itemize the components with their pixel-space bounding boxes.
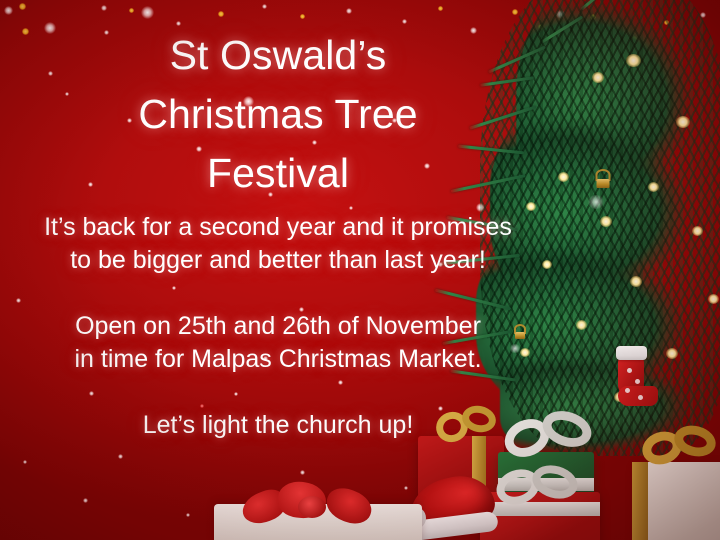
paragraph-closing: Let’s light the church up! [0, 409, 556, 442]
paragraph-intro: It’s back for a second year and it promi… [0, 211, 556, 277]
fairy-light [676, 116, 690, 128]
title-line-1: St Oswald’s [0, 26, 556, 85]
fairy-light [558, 172, 569, 182]
fairy-light [592, 72, 604, 83]
fairy-light [692, 226, 703, 236]
fairy-light [648, 182, 659, 192]
paragraph-dates: Open on 25th and 26th of November in tim… [0, 310, 556, 376]
fairy-light [708, 294, 719, 304]
gift-bow-gold-right [642, 424, 718, 468]
snowflake-icon [627, 368, 632, 373]
bauble-highlight [587, 195, 605, 209]
fairy-light [576, 320, 587, 330]
fairy-light [666, 348, 678, 359]
snowflake-icon [625, 388, 630, 393]
page-title: St Oswald’s Christmas Tree Festival [0, 0, 556, 203]
intro-line-1: It’s back for a second year and it promi… [0, 211, 556, 244]
christmas-stocking-icon [618, 346, 660, 408]
title-line-3: Festival [0, 144, 556, 203]
snowflake-icon [635, 379, 640, 384]
gift-ribbon [632, 462, 648, 540]
closing-line-1: Let’s light the church up! [0, 409, 556, 442]
dates-line-2: in time for Malpas Christmas Market. [0, 343, 556, 376]
dates-line-1: Open on 25th and 26th of November [0, 310, 556, 343]
bauble-cap [596, 179, 609, 188]
snowflake-icon [638, 395, 643, 400]
poster-body: It’s back for a second year and it promi… [0, 211, 556, 442]
paragraph-spacer [0, 376, 556, 409]
intro-line-2: to be bigger and better than last year! [0, 244, 556, 277]
stocking-cuff [616, 346, 647, 360]
fairy-light [630, 276, 642, 287]
poster-content: St Oswald’s Christmas Tree Festival It’s… [0, 0, 556, 540]
gift-box-white-gold [636, 462, 720, 540]
title-line-2: Christmas Tree [0, 85, 556, 144]
paragraph-spacer [0, 277, 556, 310]
fairy-light [626, 54, 641, 67]
red-bauble-large [576, 186, 629, 239]
christmas-poster: St Oswald’s Christmas Tree Festival It’s… [0, 0, 720, 540]
